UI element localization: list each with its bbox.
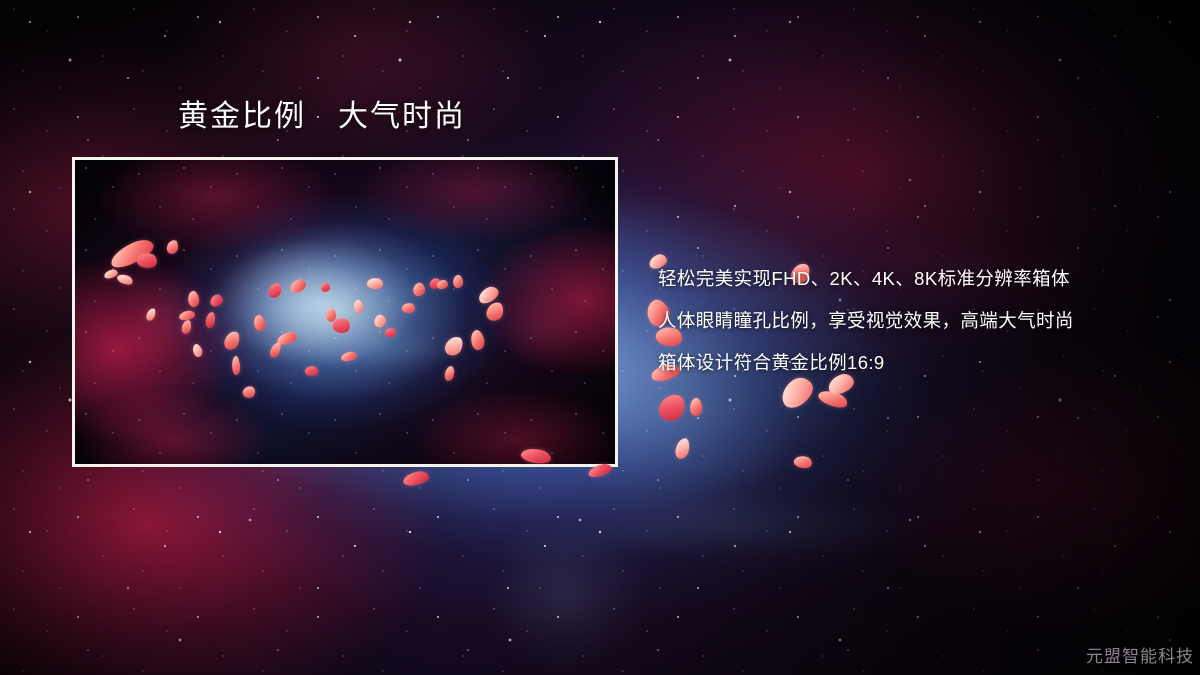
petal	[674, 437, 690, 460]
petal	[689, 397, 703, 416]
petal	[656, 391, 688, 425]
picture-starfield	[75, 160, 615, 464]
slide-canvas: 黄金比例 大气时尚	[0, 0, 1200, 675]
petal	[793, 454, 813, 470]
framed-picture	[72, 157, 618, 467]
slide-heading: 黄金比例 大气时尚	[178, 98, 466, 136]
body-copy-line-1: 轻松完美实现FHD、2K、4K、8K标准分辨率箱体	[658, 258, 1178, 300]
body-copy-line-2: 人体眼睛瞳孔比例，享受视觉效果，高端大气时尚	[658, 300, 1178, 342]
picture-content	[75, 160, 615, 464]
body-copy-line-3: 箱体设计符合黄金比例16:9	[658, 342, 1178, 384]
petal	[402, 470, 430, 487]
body-copy: 轻松完美实现FHD、2K、4K、8K标准分辨率箱体 人体眼睛瞳孔比例，享受视觉效…	[658, 258, 1178, 384]
watermark: 元盟智能科技	[1086, 642, 1194, 667]
petal	[816, 387, 849, 411]
